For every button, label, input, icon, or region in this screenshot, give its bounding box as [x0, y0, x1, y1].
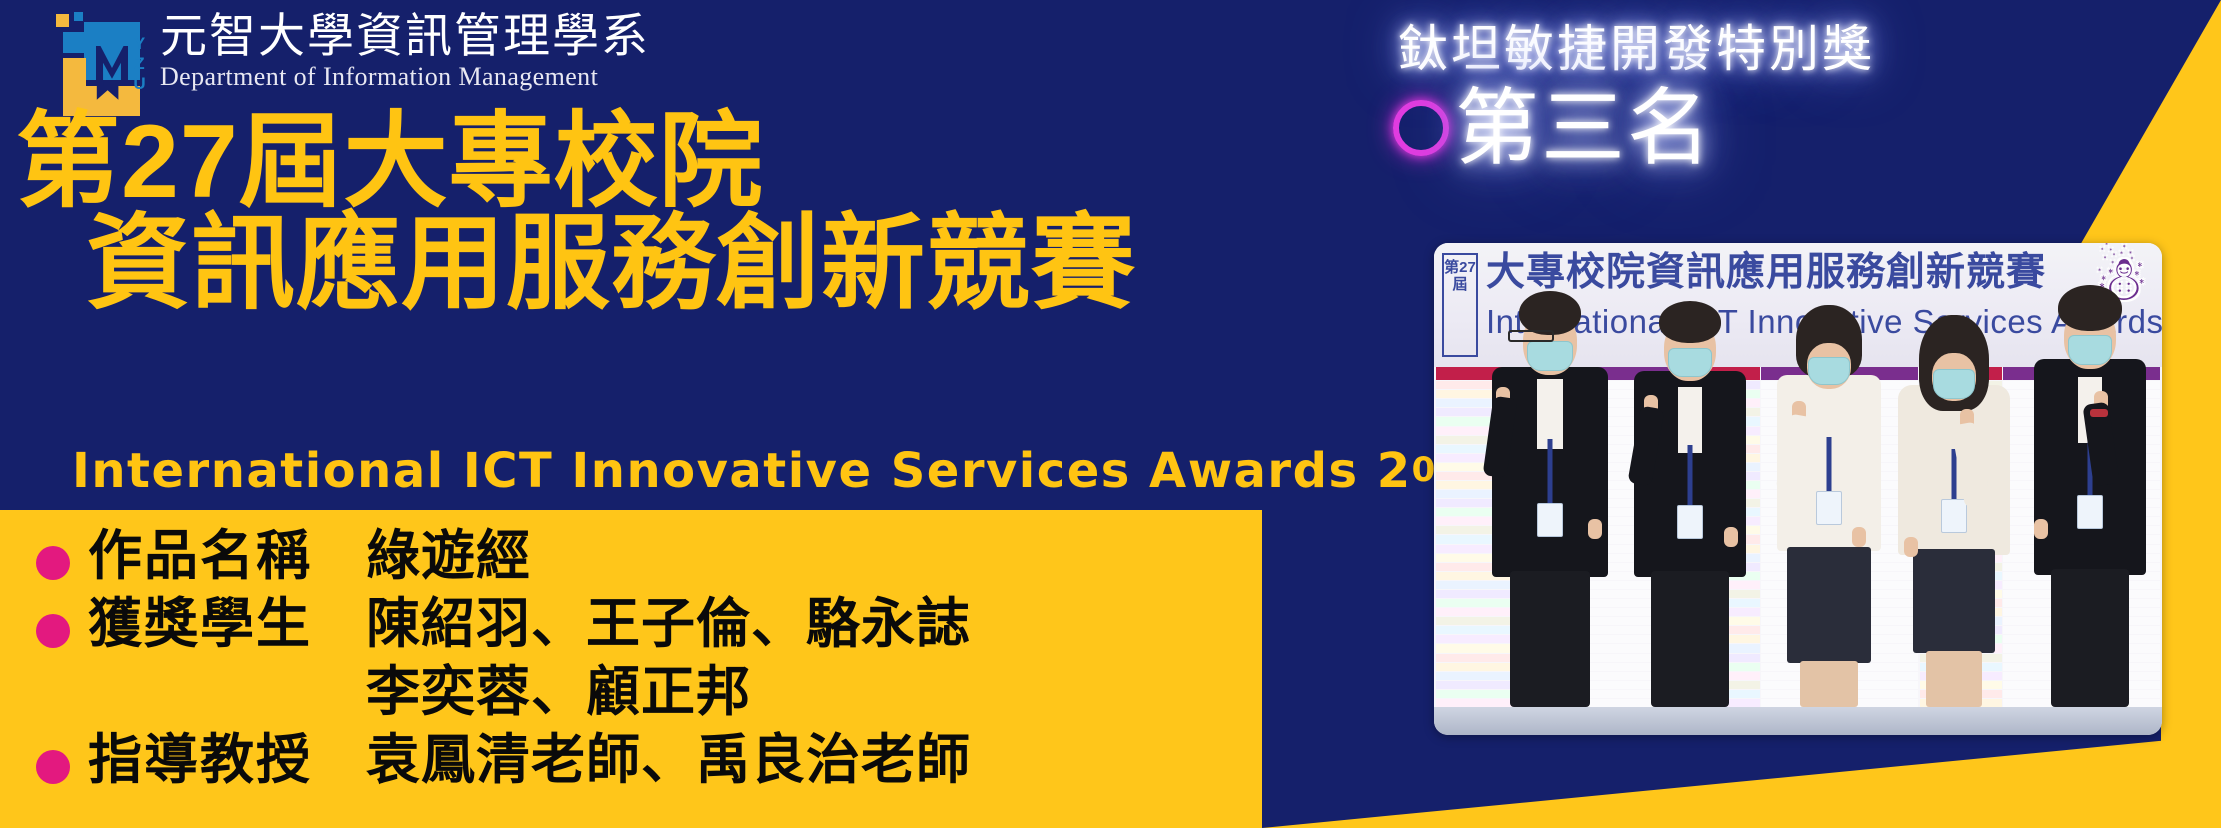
detail-label: 獲獎學生 [88, 592, 366, 658]
detail-label: 指導教授 [88, 728, 366, 794]
circle-ring-icon [1393, 100, 1449, 156]
headline-line-1: 第27屆大專校院 [16, 110, 764, 214]
banner-title-cn: 大專校院資訊應用服務創新競賽 [1486, 253, 2046, 292]
headline-english-main: International ICT Innovative Services Aw… [72, 443, 1412, 499]
banner-edition-badge: 第27屆 [1442, 253, 1478, 357]
detail-value: 綠遊經 [366, 524, 531, 590]
rank-label: 第三名 [1455, 86, 1713, 170]
person [1764, 307, 1894, 707]
person [1480, 307, 1620, 707]
university-name-cn: 元智大學資訊管理學系 [160, 12, 650, 60]
detail-value: 陳紹羽、王子倫、駱永誌 [366, 592, 971, 658]
right-yellow-strip [2161, 260, 2221, 780]
bullet-placeholder [36, 682, 70, 716]
yzu-im-logo-icon: YZU [34, 8, 146, 116]
bullet-icon [36, 614, 70, 648]
award-banner: YZU 元智大學資訊管理學系 Department of Information… [0, 0, 2221, 828]
bullet-icon [36, 546, 70, 580]
department-name-en: Department of Information Management [160, 63, 650, 92]
headline-line-2: 資訊應用服務創新競賽 [86, 212, 1136, 316]
person [1886, 307, 2022, 707]
detail-value: 袁鳳清老師、禹良治老師 [366, 728, 971, 794]
logo-text-block: 元智大學資訊管理學系 Department of Information Man… [160, 8, 650, 92]
person [1620, 307, 1760, 707]
detail-row: 獲獎學生 陳紹羽、王子倫、駱永誌 [20, 592, 1260, 658]
bullet-icon [36, 750, 70, 784]
department-logo-row: YZU 元智大學資訊管理學系 Department of Information… [34, 8, 650, 116]
detail-row: 指導教授 袁鳳清老師、禹良治老師 [20, 728, 1260, 794]
person [2024, 307, 2156, 707]
detail-row: 作品名稱 綠遊經 [20, 524, 1260, 590]
rank-row: 第三名 [1393, 86, 1713, 170]
detail-label: 作品名稱 [88, 524, 366, 590]
detail-value: 李奕蓉、顧正邦 [366, 660, 751, 726]
photo-floor [1434, 707, 2162, 735]
special-award-title: 鈦坦敏捷開發特別獎 [1398, 22, 1875, 77]
logo-yzu-letters: YZU [132, 34, 148, 114]
team-group-photo: 第27屆 大專校院資訊應用服務創新競賽 International ICT In… [1434, 243, 2162, 735]
headline-english: International ICT Innovative Services Aw… [72, 447, 1507, 495]
detail-row-continuation: 李奕蓉、顧正邦 [20, 660, 1260, 726]
award-details-list: 作品名稱 綠遊經 獲獎學生 陳紹羽、王子倫、駱永誌 李奕蓉、顧正邦 指導教授 袁… [20, 524, 1260, 796]
